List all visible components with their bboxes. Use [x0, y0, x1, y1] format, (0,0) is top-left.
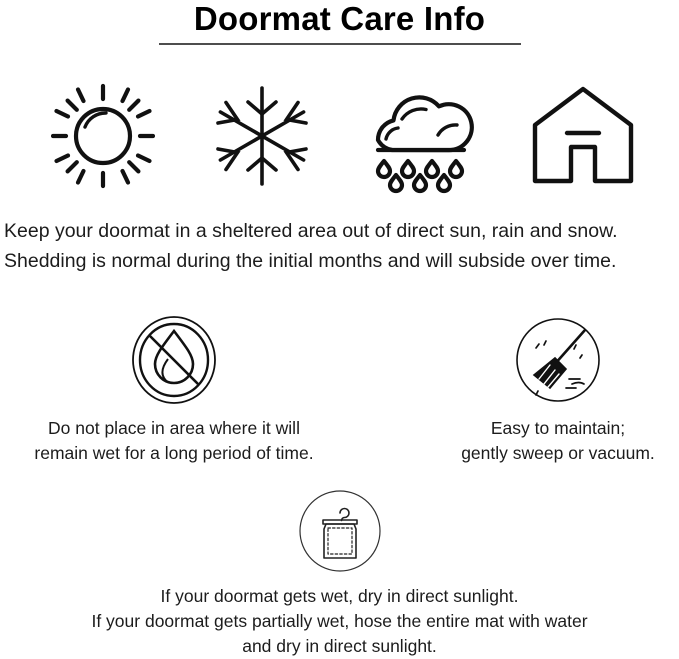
- drying-instructions-block: If your doormat gets wet, dry in direct …: [0, 486, 679, 659]
- drying-instructions-caption: If your doormat gets wet, dry in direct …: [0, 584, 679, 659]
- care-items-row: Do not place in area where it will remai…: [0, 312, 679, 462]
- care-item-sweep: Easy to maintain; gently sweep or vacuum…: [393, 312, 679, 466]
- care-item-sweep-line-1: Easy to maintain;: [491, 418, 625, 438]
- title-block: Doormat Care Info: [0, 0, 679, 45]
- drying-line-2: If your doormat gets partially wet, hose…: [91, 611, 587, 631]
- drying-line-3: and dry in direct sunlight.: [242, 636, 437, 656]
- page-title: Doormat Care Info: [0, 0, 679, 37]
- hang-to-dry-icon: [0, 486, 679, 576]
- doormat-care-info-page: Doormat Care Info: [0, 0, 679, 655]
- intro-line-1: Keep your doormat in a sheltered area ou…: [4, 216, 679, 246]
- care-item-no-water-line-2: remain wet for a long period of time.: [34, 443, 313, 463]
- weather-icon-row: [0, 72, 679, 200]
- broom-sweep-icon: [393, 312, 679, 408]
- intro-paragraph: Keep your doormat in a sheltered area ou…: [0, 216, 679, 276]
- snowflake-icon: [192, 72, 332, 200]
- care-item-sweep-line-2: gently sweep or vacuum.: [461, 443, 655, 463]
- care-item-no-water: Do not place in area where it will remai…: [9, 312, 339, 466]
- rain-cloud-icon: [352, 72, 492, 200]
- house-icon: [513, 72, 653, 200]
- title-underline-rule: [159, 43, 521, 45]
- care-item-no-water-line-1: Do not place in area where it will: [48, 418, 300, 438]
- no-water-icon: [9, 312, 339, 408]
- sun-icon: [33, 72, 173, 200]
- care-item-sweep-caption: Easy to maintain; gently sweep or vacuum…: [393, 416, 679, 466]
- care-item-no-water-caption: Do not place in area where it will remai…: [9, 416, 339, 466]
- intro-line-2: Shedding is normal during the initial mo…: [4, 246, 679, 276]
- drying-line-1: If your doormat gets wet, dry in direct …: [161, 586, 519, 606]
